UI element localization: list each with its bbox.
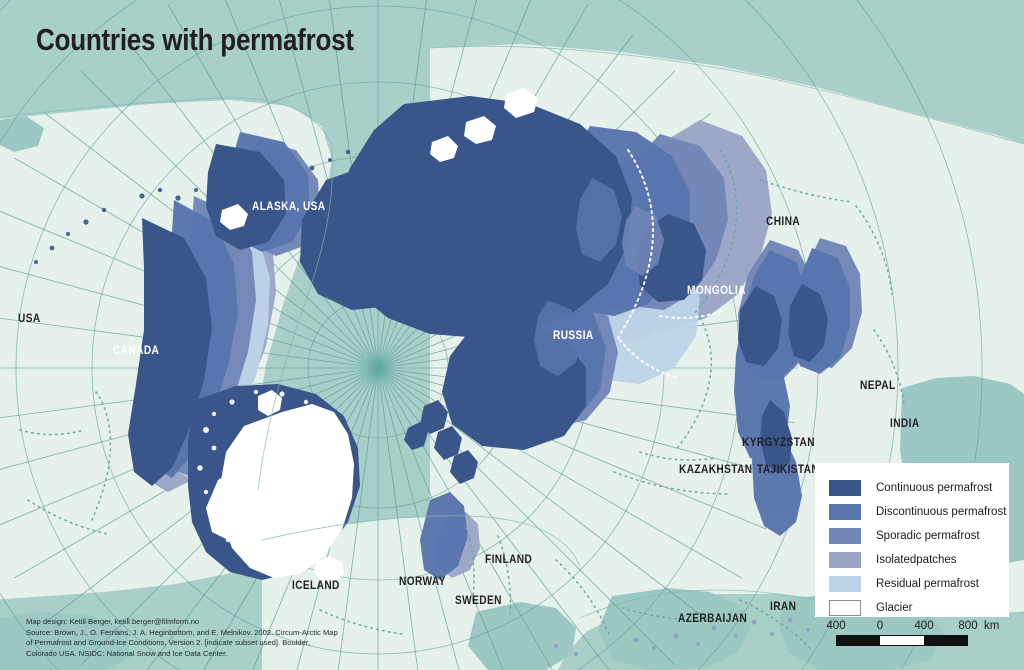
scale-segment [924, 636, 967, 645]
legend-label: Residual permafrost [876, 578, 979, 590]
credits-line: Colorado USA. NSIDC: National Snow and I… [26, 649, 338, 660]
page-title: Countries with permafrost [36, 22, 354, 58]
legend-label: Isolatedpatches [876, 554, 957, 566]
legend-label: Glacier [876, 602, 912, 614]
legend-row[interactable]: Glacier [829, 597, 997, 618]
legend-row[interactable]: Isolatedpatches [829, 549, 997, 570]
scale-tick-label: 800 [958, 620, 977, 632]
scale-segment [837, 636, 880, 645]
credits-line: of Permafrost and Ground-Ice Conditions,… [26, 638, 338, 649]
legend-row[interactable]: Sporadic permafrost [829, 525, 997, 546]
credits-line: Source: Brown, J., O. Ferrians, J. A. He… [26, 628, 338, 639]
legend-row[interactable]: Discontinuous permafrost [829, 501, 997, 522]
legend-swatch-icon [829, 600, 861, 616]
legend-label: Continuous permafrost [876, 482, 992, 494]
scale-bar-ticks: 4000400800km [828, 620, 1008, 635]
legend-swatch-icon [829, 552, 861, 568]
legend-row[interactable]: Continuous permafrost [829, 477, 997, 498]
scale-tick-label: 0 [877, 620, 883, 632]
legend-label: Sporadic permafrost [876, 530, 980, 542]
scale-unit-label: km [984, 620, 999, 632]
credits-line: Map design: Ketill Berger, ketill.berger… [26, 617, 338, 628]
legend-swatch-icon [829, 504, 861, 520]
scale-bar: 4000400800km [828, 620, 1008, 646]
legend-row[interactable]: Residual permafrost [829, 573, 997, 594]
scale-tick-label: 400 [914, 620, 933, 632]
legend-panel: Continuous permafrostDiscontinuous perma… [815, 463, 1009, 617]
scale-segment [880, 636, 923, 645]
scale-tick-label: 400 [826, 620, 845, 632]
legend-label: Discontinuous permafrost [876, 506, 1006, 518]
north-pole-marker [344, 334, 412, 402]
legend-swatch-icon [829, 576, 861, 592]
legend-swatch-icon [829, 480, 861, 496]
legend-swatch-icon [829, 528, 861, 544]
scale-bar-segments [836, 635, 968, 646]
credits-block: Map design: Ketill Berger, ketill.berger… [26, 617, 338, 659]
permafrost-map: Countries with permafrost ALASKA, USAUSA… [0, 0, 1024, 670]
